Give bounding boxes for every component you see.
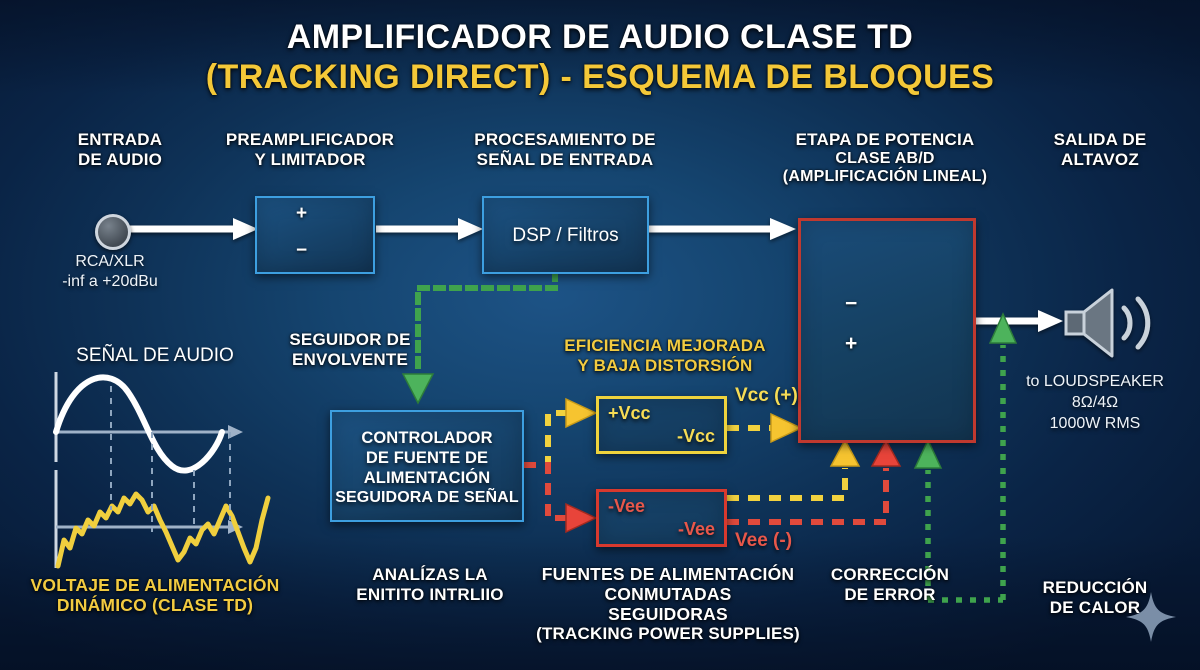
input-jack-icon[interactable] <box>95 214 131 250</box>
vcc-top-label: +Vcc <box>608 403 651 424</box>
speaker-caption: SALIDA DE ALTAVOZ <box>1010 130 1190 169</box>
preamp-minus-label: − <box>296 240 307 262</box>
controller-block-label: CONTROLADOR DE FUENTE DE ALIMENTACIÓN SE… <box>332 428 522 508</box>
preamp-block[interactable] <box>255 196 375 274</box>
power-opamp-plus-label: + <box>845 332 857 356</box>
power-opamp-minus-label: − <box>845 292 857 316</box>
sparkle-icon <box>1124 590 1178 644</box>
envelope-follower-label: SEGUIDOR DE ENVOLVENTE <box>275 330 425 369</box>
speaker-icon <box>1058 284 1164 362</box>
dsp-block-label: DSP / Filtros <box>484 225 647 247</box>
dsp-block[interactable]: DSP / Filtros <box>482 196 649 274</box>
power-amp-block[interactable] <box>798 218 976 443</box>
vee-rail-label: Vee (-) <box>735 530 792 552</box>
vcc-bottom-label: -Vcc <box>677 426 715 447</box>
efficiency-caption: EFICIENCIA MEJORADA Y BAJA DISTORSIÓN <box>555 336 775 375</box>
positive-supply-block[interactable]: +Vcc -Vcc <box>596 396 727 454</box>
page-title-line1: AMPLIFICADOR DE AUDIO CLASE TD <box>0 18 1200 57</box>
speaker-spec: to LOUDSPEAKER 8Ω/4Ω 1000W RMS <box>990 372 1200 434</box>
preamp-caption: PREAMPLIFICADOR Y LIMITADOR <box>190 130 430 169</box>
dsp-caption: PROCESAMIENTO DE SEÑAL DE ENTRADA <box>440 130 690 169</box>
page-title-line2: (TRACKING DIRECT) - ESQUEMA DE BLOQUES <box>0 58 1200 97</box>
input-caption: ENTRADA DE AUDIO <box>40 130 200 169</box>
waveform-caption: VOLTAJE DE ALIMENTACIÓN DINÁMICO (CLASE … <box>10 575 300 615</box>
power-stage-caption: ETAPA DE POTENCIA CLASE AB/D (AMPLIFICAC… <box>755 130 1015 186</box>
preamp-plus-label: + <box>296 203 307 225</box>
supplies-bottom-caption: FUENTES DE ALIMENTACIÓN CONMUTADAS SEGUI… <box>518 564 818 644</box>
diagram-canvas: AMPLIFICADOR DE AUDIO CLASE TD (TRACKING… <box>0 0 1200 670</box>
input-connector-spec: RCA/XLR -inf a +20dBu <box>20 252 200 292</box>
error-correction-label: CORRECCIÓN DE ERROR <box>800 565 980 604</box>
controller-bottom-caption: ANALÍZAS LA ENITITO INTRLIΙO <box>340 565 520 604</box>
vcc-rail-label: Vcc (+) <box>735 385 798 407</box>
vee-top-label: -Vee <box>608 496 645 517</box>
negative-supply-block[interactable]: -Vee -Vee <box>596 489 727 547</box>
vee-bottom-label: -Vee <box>678 519 715 540</box>
waveform-title: SEÑAL DE AUDIO <box>40 344 270 368</box>
power-supply-controller-block[interactable]: CONTROLADOR DE FUENTE DE ALIMENTACIÓN SE… <box>330 410 524 522</box>
